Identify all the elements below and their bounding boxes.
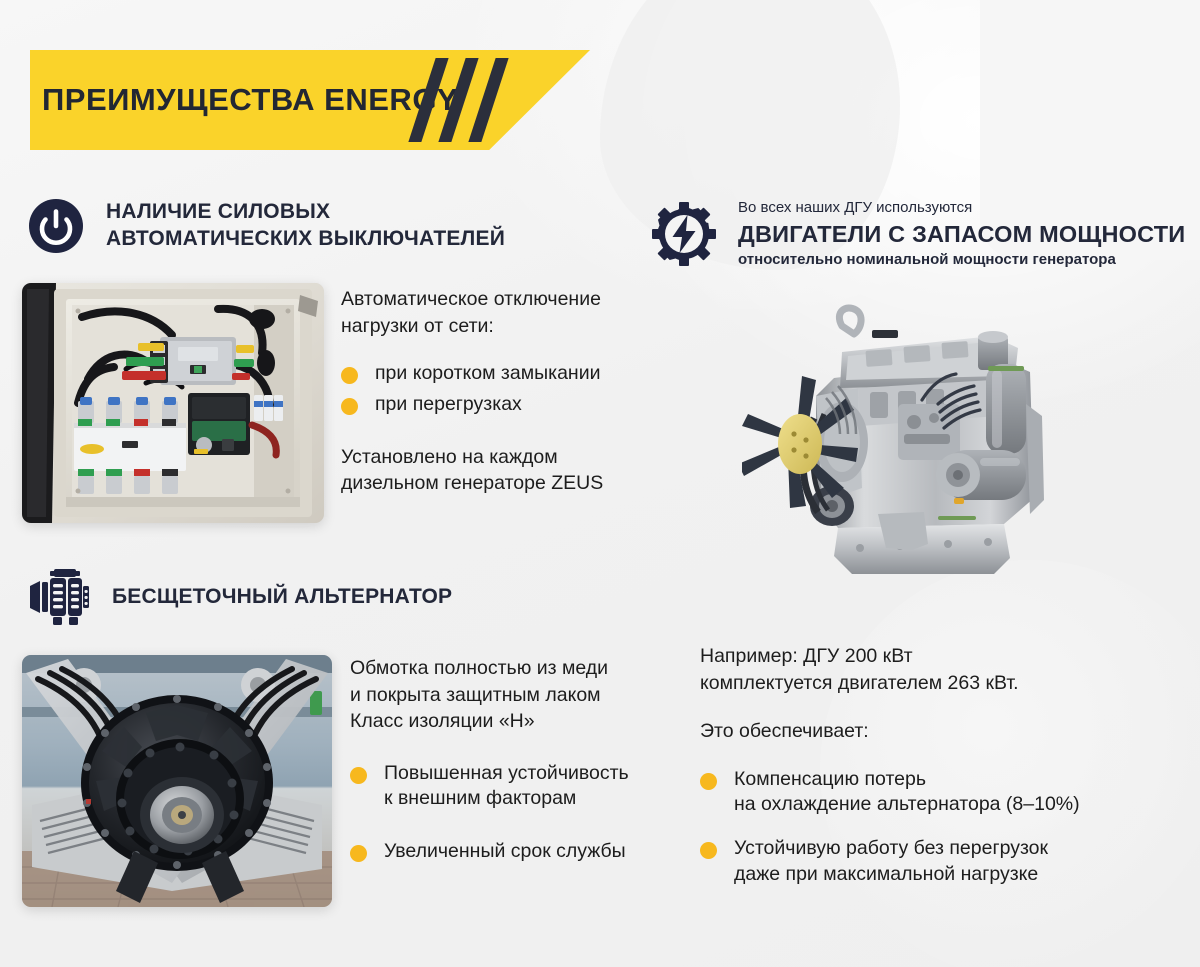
diesel-engine-photo (742, 292, 1072, 577)
list-item: Компенсацию потерь на охлаждение альтерн… (700, 767, 1180, 819)
alternator-lead-line-3: Класс изоляции «Н» (350, 708, 680, 735)
engines-copy-block: Например: ДГУ 200 кВт комплектуется двиг… (700, 643, 1180, 888)
engine-example-line-1: Например: ДГУ 200 кВт (700, 643, 1180, 670)
breakers-bullet-list: при коротком замыкании при перегрузках (341, 361, 671, 418)
breakers-lead-line-2: нагрузки от сети: (341, 313, 671, 340)
header-banner: ПРЕИМУЩЕСТВА ENERGY (30, 50, 590, 150)
section-title-line-2: АВТОМАТИЧЕСКИХ ВЫКЛЮЧАТЕЛЕЙ (106, 226, 505, 253)
section-title-line-1: НАЛИЧИЕ СИЛОВЫХ (106, 199, 505, 226)
list-item-line-1: Устойчивую работу без перегрузок (734, 837, 1048, 859)
list-item-line-1: Компенсацию потерь (734, 768, 926, 790)
breakers-copy-block: Автоматическое отключение нагрузки от се… (341, 286, 671, 497)
list-item-line-1: Повышенная устойчивость (384, 762, 629, 784)
list-item: при коротком замыкании (341, 361, 671, 387)
engines-bullet-list: Компенсацию потерь на охлаждение альтерн… (700, 767, 1180, 889)
section-heading-engines: Во всех наших ДГУ используются ДВИГАТЕЛИ… (652, 198, 1185, 269)
list-item: Устойчивую работу без перегрузок даже пр… (700, 836, 1180, 888)
section-title: БЕСЩЕТОЧНЫЙ АЛЬТЕРНАТОР (112, 584, 452, 611)
page-title: ПРЕИМУЩЕСТВА ENERGY (42, 82, 458, 118)
section-title: ДВИГАТЕЛИ С ЗАПАСОМ МОЩНОСТИ (738, 219, 1185, 249)
electrical-cabinet-photo (22, 283, 324, 523)
engine-provides-label: Это обеспечивает: (700, 718, 1180, 745)
infographic-page: ПРЕИМУЩЕСТВА ENERGY НАЛИЧИЕ СИЛОВЫХ АВТО… (0, 0, 1200, 967)
alternator-icon (28, 568, 90, 626)
breakers-footer-line-2: дизельном генераторе ZEUS (341, 470, 671, 497)
gear-bolt-icon (652, 202, 716, 266)
list-item-line-2: даже при максимальной нагрузке (734, 863, 1038, 885)
section-kicker: Во всех наших ДГУ используются (738, 198, 1185, 218)
list-item-line-1: Увеличенный срок службы (384, 840, 626, 862)
list-item: при перегрузках (341, 392, 671, 418)
brushless-alternator-photo (22, 655, 332, 907)
engine-example-line-2: комплектуется двигателем 263 кВт. (700, 670, 1180, 697)
list-item: Увеличенный срок службы (350, 839, 680, 865)
banner-stripes-decoration (422, 58, 532, 142)
section-subtitle: относительно номинальной мощности генера… (738, 250, 1185, 270)
list-item: Повышенная устойчивость к внешним фактор… (350, 761, 680, 813)
alternator-lead-line-2: и покрыта защитным лаком (350, 682, 680, 709)
list-item-line-2: на охлаждение альтернатора (8–10%) (734, 793, 1080, 815)
alternator-bullet-list: Повышенная устойчивость к внешним фактор… (350, 761, 680, 866)
alternator-lead-line-1: Обмотка полностью из меди (350, 655, 680, 682)
section-heading-breakers: НАЛИЧИЕ СИЛОВЫХ АВТОМАТИЧЕСКИХ ВЫКЛЮЧАТЕ… (28, 198, 505, 254)
power-button-icon (28, 198, 84, 254)
breakers-lead-line-1: Автоматическое отключение (341, 286, 671, 313)
list-item-line-2: к внешним факторам (384, 787, 576, 809)
alternator-copy-block: Обмотка полностью из меди и покрыта защи… (350, 655, 680, 865)
section-heading-alternator: БЕСЩЕТОЧНЫЙ АЛЬТЕРНАТОР (28, 568, 452, 626)
breakers-footer-line-1: Установлено на каждом (341, 444, 671, 471)
